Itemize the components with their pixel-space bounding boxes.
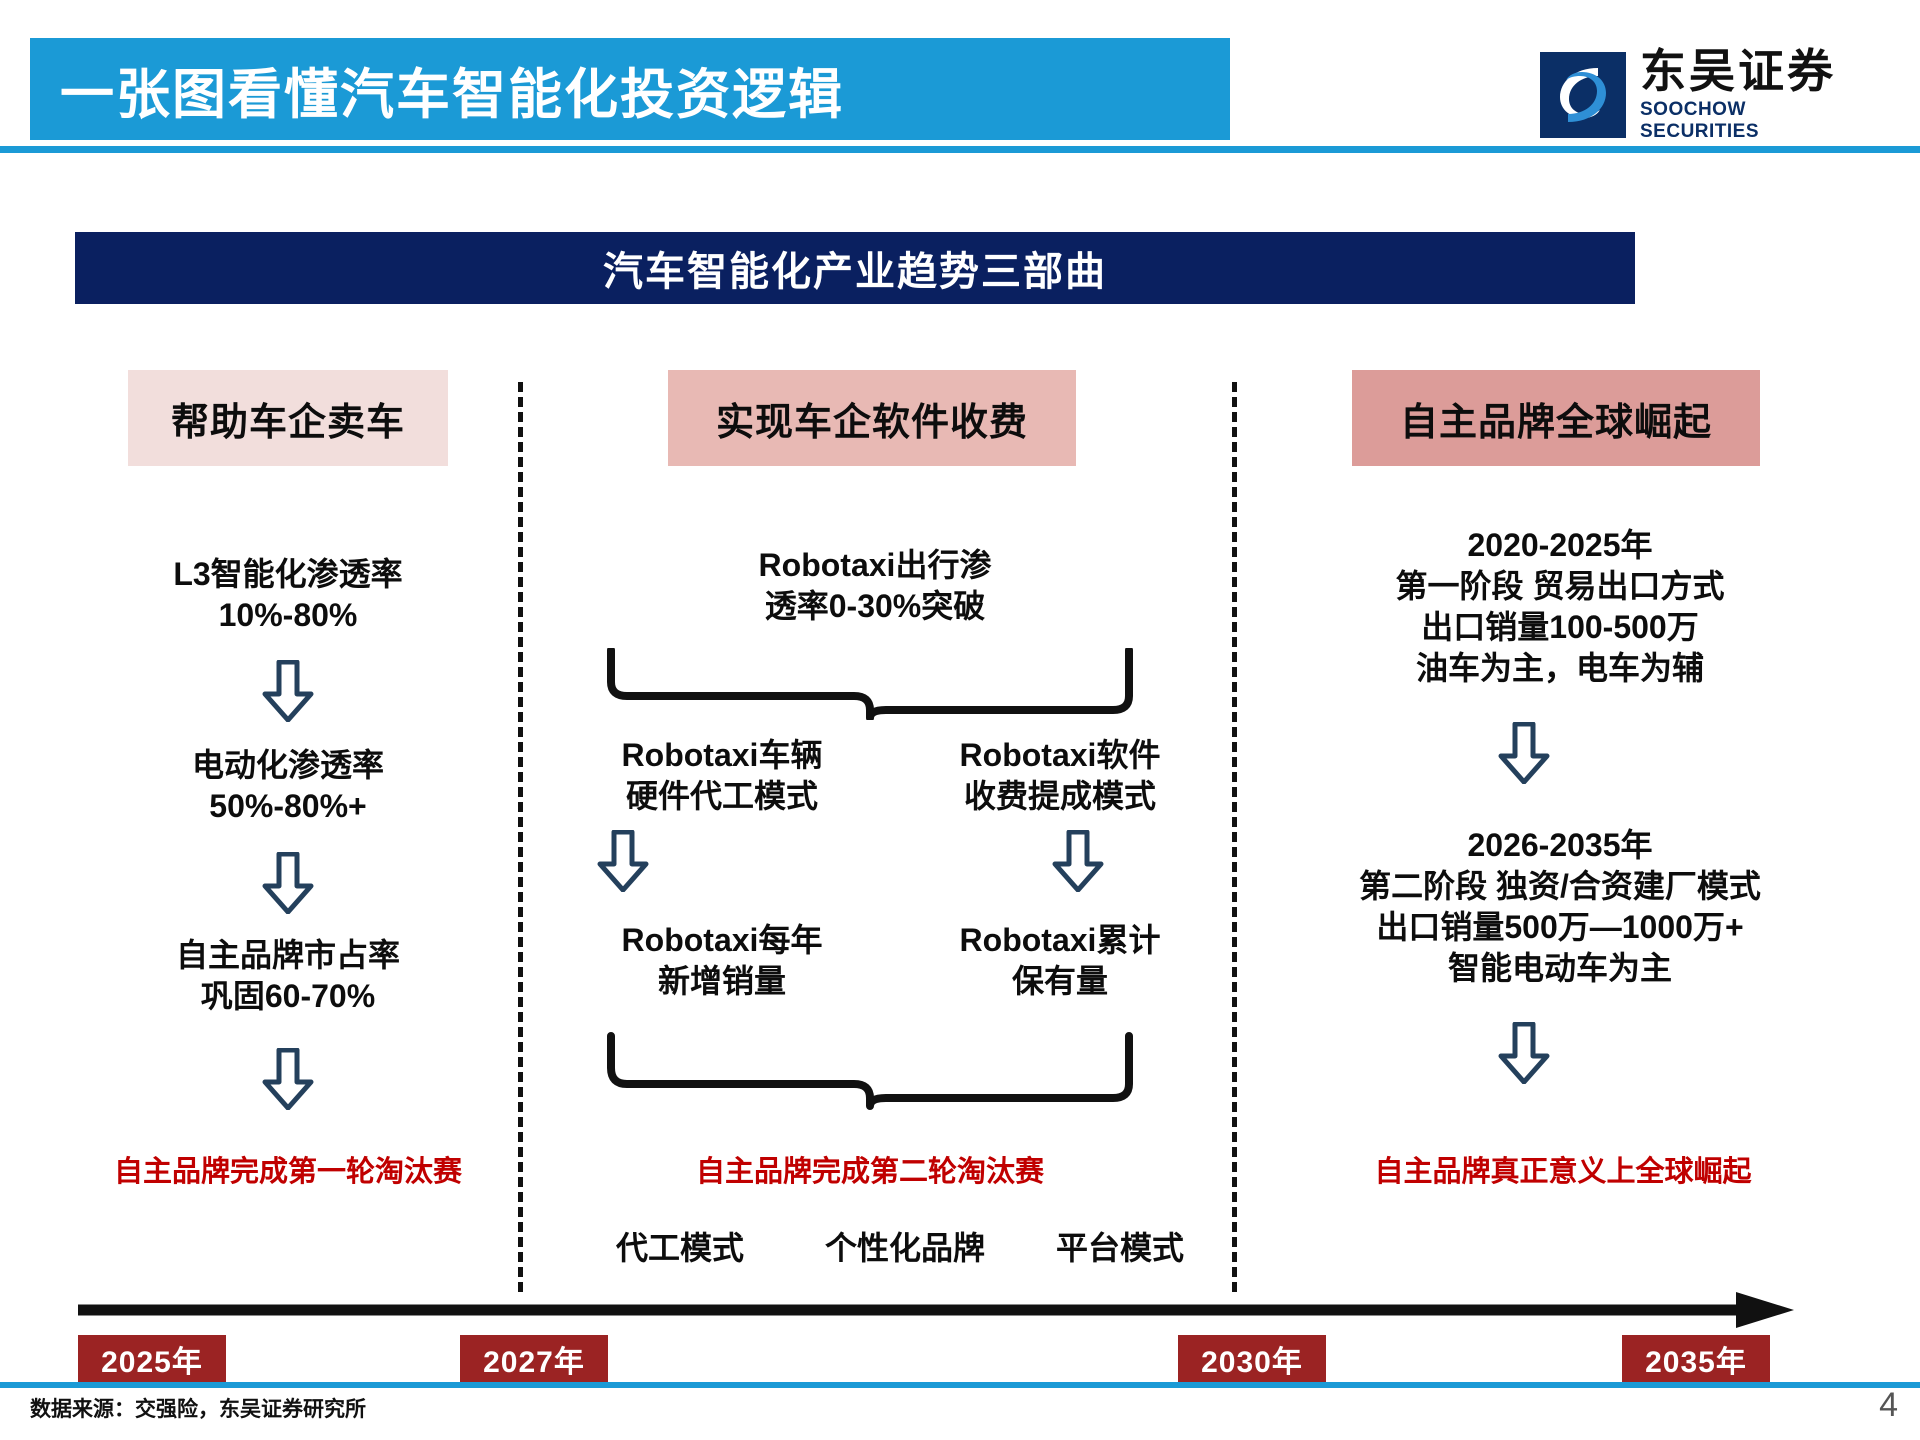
soochow-logo-mark-icon — [1540, 52, 1626, 138]
timeline-year-2: 2027年 — [460, 1335, 608, 1383]
col2-branch-right-top: Robotaxi软件 收费提成模式 — [900, 735, 1220, 817]
timeline-year-4-label: 2035年 — [1645, 1337, 1747, 1381]
col2-conclusion: 自主品牌完成第二轮淘汰赛 — [600, 1148, 1140, 1190]
col2-mode-1: 代工模式 — [590, 1228, 770, 1269]
timeline-year-1-label: 2025年 — [101, 1337, 203, 1381]
down-arrow-icon — [597, 830, 649, 897]
col3-step-2: 2026-2035年 第二阶段 独资/合资建厂模式 出口销量500万—1000万… — [1250, 825, 1870, 989]
section-banner-title: 汽车智能化产业趋势三部曲 — [603, 239, 1107, 297]
column-header-3: 自主品牌全球崛起 — [1352, 370, 1760, 466]
timeline-year-1: 2025年 — [78, 1335, 226, 1383]
col1-conclusion: 自主品牌完成第一轮淘汰赛 — [58, 1148, 518, 1190]
down-arrow-icon — [262, 660, 314, 727]
brand-name-en: SOOCHOW SECURITIES — [1640, 99, 1870, 143]
column-divider-1 — [518, 382, 523, 1292]
header-divider — [0, 146, 1920, 153]
brand-name-cn: 东吴证券 — [1640, 47, 1870, 95]
col1-step-2: 电动化渗透率 50%-80%+ — [98, 745, 478, 827]
timeline-year-4: 2035年 — [1622, 1335, 1770, 1383]
column-header-2: 实现车企软件收费 — [668, 370, 1076, 466]
footer-divider — [0, 1382, 1920, 1388]
column-header-3-label: 自主品牌全球崛起 — [1400, 391, 1712, 446]
column-header-1-label: 帮助车企卖车 — [171, 391, 405, 446]
page-title: 一张图看懂汽车智能化投资逻辑 — [60, 50, 844, 129]
col1-step-3: 自主品牌市占率 巩固60-70% — [98, 935, 478, 1017]
col2-mode-3: 平台模式 — [1030, 1228, 1210, 1269]
timeline-year-3: 2030年 — [1178, 1335, 1326, 1383]
down-arrow-icon — [1052, 830, 1104, 897]
col2-mode-2: 个性化品牌 — [790, 1228, 1020, 1269]
brand-logo-text: 东吴证券 SOOCHOW SECURITIES — [1640, 47, 1870, 143]
footer-source: 数据来源：交强险，东吴证券研究所 — [30, 1393, 366, 1423]
down-arrow-icon — [1498, 1022, 1550, 1089]
slide-title-bar: 一张图看懂汽车智能化投资逻辑 — [30, 38, 1230, 140]
col3-conclusion: 自主品牌真正意义上全球崛起 — [1258, 1148, 1868, 1190]
timeline-arrow-icon — [78, 1288, 1798, 1337]
column-header-1: 帮助车企卖车 — [128, 370, 448, 466]
column-header-2-label: 实现车企软件收费 — [716, 391, 1028, 446]
col3-step-1: 2020-2025年 第一阶段 贸易出口方式 出口销量100-500万 油车为主… — [1270, 525, 1850, 689]
slide-root: 一张图看懂汽车智能化投资逻辑 东吴证券 SOOCHOW SECURITIES 汽… — [0, 0, 1920, 1440]
down-arrow-icon — [1498, 722, 1550, 789]
col2-branch-right-bottom: Robotaxi累计 保有量 — [900, 920, 1220, 1002]
col1-step-1: L3智能化渗透率 10%-80% — [98, 554, 478, 636]
curly-brace-up-icon — [605, 648, 1135, 725]
brand-logo: 东吴证券 SOOCHOW SECURITIES — [1540, 50, 1870, 140]
timeline-year-3-label: 2030年 — [1201, 1337, 1303, 1381]
timeline-year-2-label: 2027年 — [483, 1337, 585, 1381]
down-arrow-icon — [262, 852, 314, 919]
section-banner: 汽车智能化产业趋势三部曲 — [75, 232, 1635, 304]
col2-branch-left-bottom: Robotaxi每年 新增销量 — [562, 920, 882, 1002]
col2-branch-left-top: Robotaxi车辆 硬件代工模式 — [562, 735, 882, 817]
down-arrow-icon — [262, 1048, 314, 1115]
page-number: 4 — [1879, 1386, 1898, 1425]
curly-brace-down-icon — [605, 1032, 1135, 1115]
col2-top-node: Robotaxi出行渗 透率0-30%突破 — [650, 545, 1100, 627]
column-divider-2 — [1232, 382, 1237, 1292]
